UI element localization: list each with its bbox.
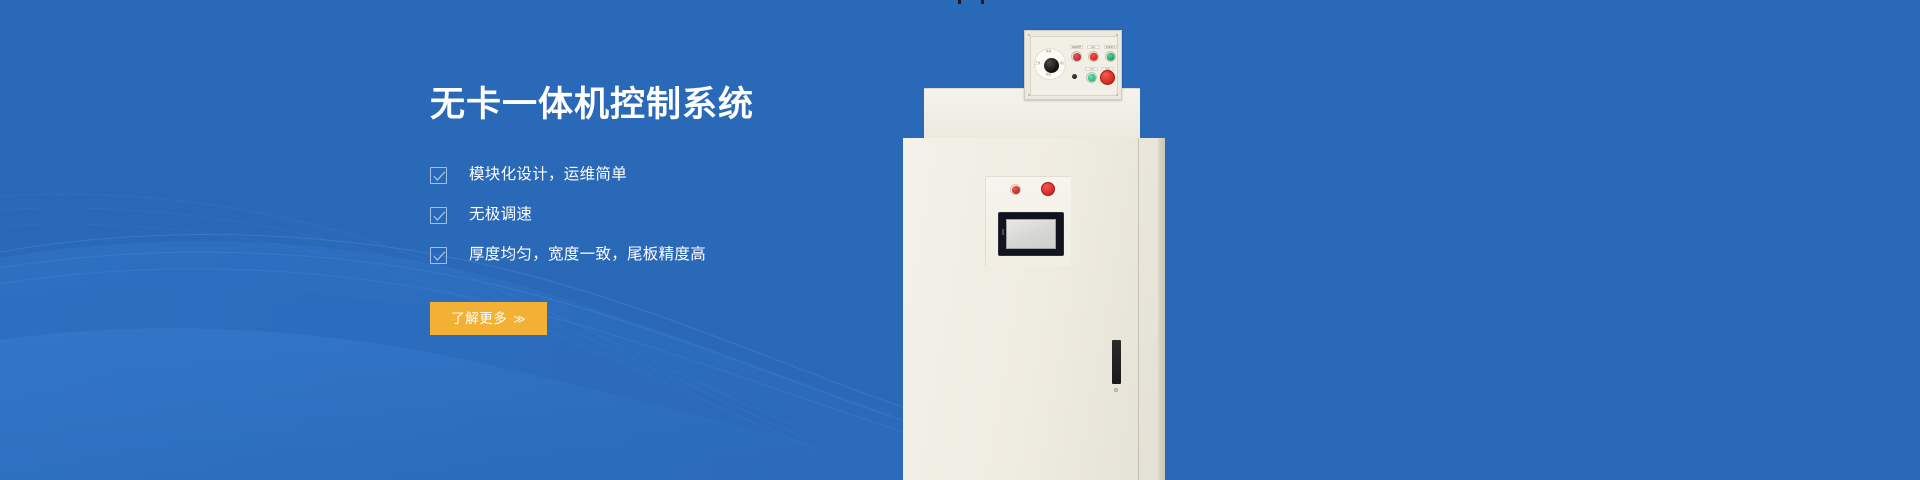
page-title: 无卡一体机控制系统 xyxy=(430,84,950,126)
knob-cap[interactable] xyxy=(1044,58,1059,73)
cabinet-lock-icon[interactable] xyxy=(1114,388,1118,392)
button-tag: 电源指示 xyxy=(1104,45,1117,49)
feature-item-1: 模块化设计，运维简单 xyxy=(430,164,950,186)
learn-more-button[interactable]: 了解更多 ≫ xyxy=(430,302,547,335)
double-chevron-right-icon: ≫ xyxy=(513,313,526,325)
hero-banner: 无卡一体机控制系统 模块化设计，运维简单 无极调速 xyxy=(0,0,1920,480)
button-start-cap xyxy=(1087,73,1096,82)
feature-list: 模块化设计，运维简单 无极调速 厚度均匀，宽度一致，尾板精度高 xyxy=(430,164,950,266)
indicator-alarm[interactable] xyxy=(1071,51,1082,62)
machine-photo: 快进 工作 停止 快退 故障报警 停止 电源指示 工作 xyxy=(900,0,1320,480)
hmi-touchscreen[interactable] xyxy=(998,212,1064,256)
feature-label: 模块化设计，运维简单 xyxy=(469,167,627,183)
power-cable xyxy=(958,0,984,4)
rotary-selector-knob[interactable]: 快进 工作 停止 快退 xyxy=(1034,48,1066,80)
knob-label-bottom: 快退 xyxy=(1046,74,1051,77)
screw-icon xyxy=(1028,34,1030,36)
cabinet-seam xyxy=(1138,138,1139,480)
cabinet-right-edge xyxy=(1158,138,1165,480)
hmi-screen-glass[interactable] xyxy=(1006,219,1056,249)
feature-label: 厚度均匀，宽度一致，尾板精度高 xyxy=(469,247,706,263)
feature-item-2: 无极调速 xyxy=(430,204,950,226)
check-icon xyxy=(430,247,447,264)
button-stop[interactable] xyxy=(1088,51,1099,62)
indicator-power[interactable] xyxy=(1105,51,1116,62)
button-start[interactable] xyxy=(1086,72,1097,83)
cabinet-door-handle[interactable] xyxy=(1112,340,1121,384)
button-small-black[interactable] xyxy=(1072,74,1077,79)
button-stop-cap xyxy=(1089,52,1098,61)
hero-content: 无卡一体机控制系统 模块化设计，运维简单 无极调速 xyxy=(430,84,950,335)
indicator-light-left-cap xyxy=(1012,186,1020,194)
screw-icon xyxy=(1116,94,1118,96)
screw-icon xyxy=(1028,94,1030,96)
feature-item-3: 厚度均匀，宽度一致，尾板精度高 xyxy=(430,244,950,266)
button-emergency-stop[interactable] xyxy=(1100,70,1115,85)
screw-icon xyxy=(1116,34,1118,36)
feature-label: 无极调速 xyxy=(469,207,532,223)
button-tag: 停止 xyxy=(1087,45,1100,49)
indicator-light-left[interactable] xyxy=(1010,184,1021,195)
indicator-power-cap xyxy=(1106,52,1115,61)
button-tag: 故障报警 xyxy=(1070,45,1083,49)
knob-label-right: 停止 xyxy=(1060,63,1065,66)
knob-label-top: 快进 xyxy=(1046,51,1051,54)
learn-more-label: 了解更多 xyxy=(451,312,507,326)
check-icon xyxy=(430,207,447,224)
check-icon xyxy=(430,167,447,184)
hmi-status-led-icon xyxy=(1002,229,1004,235)
indicator-alarm-cap xyxy=(1073,53,1081,61)
button-tag: 工作 xyxy=(1085,67,1098,71)
indicator-light-right[interactable] xyxy=(1041,182,1055,196)
control-panel-box: 快进 工作 停止 快退 故障报警 停止 电源指示 工作 xyxy=(1024,30,1122,100)
knob-label-left: 工作 xyxy=(1035,63,1040,66)
